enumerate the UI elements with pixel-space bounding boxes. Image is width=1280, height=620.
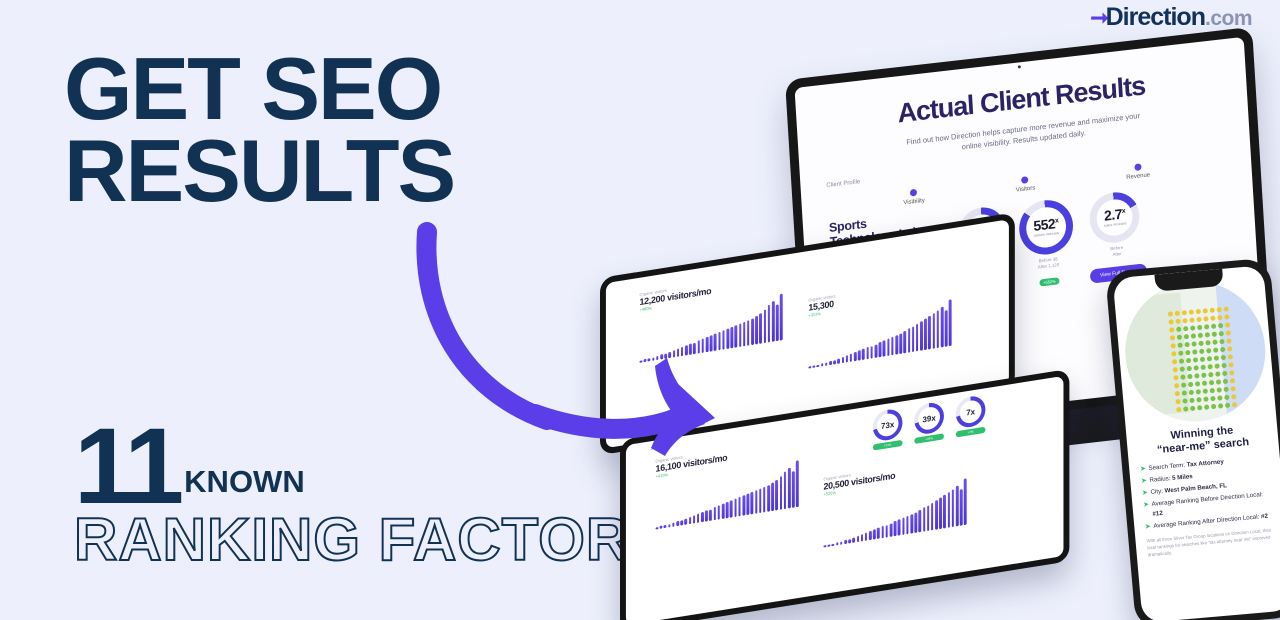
headline-line-1: GET SEO xyxy=(64,48,454,130)
mini-donut-keywords: 73x xyxy=(873,407,903,442)
phone-heading: Winning the “near-me” search xyxy=(1137,422,1268,459)
visibility-icon xyxy=(910,188,917,196)
visitors-badge: +552% xyxy=(1039,277,1060,286)
phone-screen: Winning the “near-me” search ➤Search Ter… xyxy=(1113,265,1280,620)
tab-visibility-label: Visibility xyxy=(903,197,925,205)
metric-card-visitors: 552x visitors increase Before 38 After 1… xyxy=(1018,197,1077,291)
tab-visibility[interactable]: Visibility xyxy=(903,187,925,205)
rank-pin-grid xyxy=(1167,306,1237,403)
chart-card-top-2: Organic visitors 15,300 +312% xyxy=(808,275,951,369)
phone-detail-list: ➤Search Term: Tax Attorney ➤Radius: 5 Mi… xyxy=(1140,453,1274,532)
tablet-bottom-metrics: 73x +73% 39x +39% 7x xyxy=(873,394,986,450)
mini-donut-visitors: 39x xyxy=(914,401,944,436)
phone-frame: Winning the “near-me” search ➤Search Ter… xyxy=(1105,258,1280,620)
visitors-before-after: Before 38 After 1,120 xyxy=(1021,254,1075,273)
tab-revenue-label: Revenue xyxy=(1126,172,1150,181)
factors-number: 11 xyxy=(74,424,180,508)
phone-footnote: With all three Silver Tax Group location… xyxy=(1146,526,1276,558)
curved-arrow-graphic xyxy=(415,218,745,458)
arrow-bullet-icon: ➤ xyxy=(1145,522,1151,532)
revenue-icon xyxy=(1134,163,1141,171)
arrow-bullet-icon: ➤ xyxy=(1141,476,1147,486)
tab-visitors-label: Visitors xyxy=(1016,185,1036,193)
donut-visitors: 552x visitors increase xyxy=(1018,197,1075,257)
mini-metric-visitors: 39x +39% xyxy=(914,401,944,444)
tab-revenue[interactable]: Revenue xyxy=(1125,162,1150,181)
headline-line-2: RESULTS xyxy=(64,130,454,212)
mini-donut-sales: 7x xyxy=(956,394,986,429)
factors-known-label: KNOWN xyxy=(184,464,305,500)
donut-sales: 2.7x sales increase xyxy=(1088,189,1141,245)
mini-metric-sales: 7x +7% xyxy=(956,394,986,437)
phone-content: Winning the “near-me” search ➤Search Ter… xyxy=(1126,421,1280,559)
mini-metric-keywords: 73x +73% xyxy=(873,407,903,450)
local-rank-map xyxy=(1119,276,1271,428)
sales-before-after: BeforeAfter xyxy=(1088,242,1145,262)
arrow-bullet-icon: ➤ xyxy=(1140,464,1146,474)
phone-mockup: Winning the “near-me” search ➤Search Ter… xyxy=(1105,258,1280,620)
tab-visitors[interactable]: Visitors xyxy=(1015,175,1035,193)
arrow-bullet-icon: ➤ xyxy=(1143,500,1150,520)
chart-card-bottom-2: Organic visitors 20,500 visitors/mo +525… xyxy=(823,454,966,548)
page-title: GET SEO RESULTS xyxy=(64,48,454,212)
arrow-bullet-icon: ➤ xyxy=(1142,488,1148,498)
poster-canvas: ➞ Direction .com GET SEO RESULTS 11 KNOW… xyxy=(0,0,1280,620)
visitors-icon xyxy=(1021,176,1028,184)
